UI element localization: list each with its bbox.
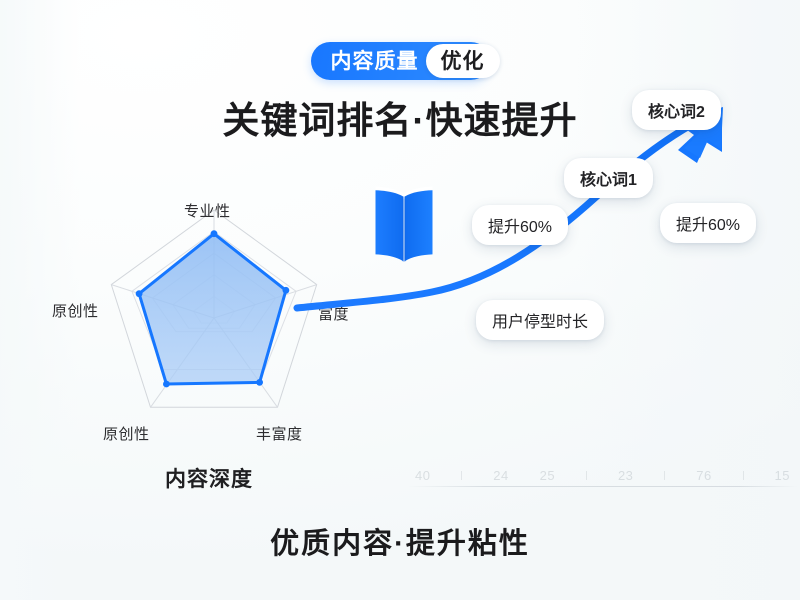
axis-number: 40 xyxy=(415,468,430,483)
axis-number: 23 xyxy=(618,468,633,483)
footer-title: 优质内容·提升粘性 xyxy=(0,520,800,562)
axis-number: 25 xyxy=(540,468,555,483)
axis-tick-mark xyxy=(586,471,587,480)
section-caption: 内容深度 xyxy=(165,463,253,493)
pill-keyword-1[interactable]: 核心词1 xyxy=(564,158,653,198)
pill-uplift-left[interactable]: 提升60% xyxy=(472,205,568,245)
badge-label: 内容质量 xyxy=(331,51,419,72)
open-book-icon xyxy=(372,184,436,268)
pill-dwell-time[interactable]: 用户停型时长 xyxy=(476,300,604,340)
pill-uplift-right[interactable]: 提升60% xyxy=(660,203,756,243)
poster-canvas: 专业性 富度 丰富度 原创性 原创性 内容质量 优化 关键词排名·快速提升 优质… xyxy=(0,0,800,600)
axis-tick-mark xyxy=(743,471,744,480)
axis-baseline xyxy=(408,486,798,487)
badge-row: 内容质量 优化 xyxy=(0,42,800,80)
pill-keyword-2[interactable]: 核心词2 xyxy=(632,90,721,130)
content-quality-badge[interactable]: 内容质量 优化 xyxy=(311,42,490,80)
axis-number: 76 xyxy=(696,468,711,483)
badge-chip-optimize: 优化 xyxy=(426,44,500,78)
axis-tick-mark xyxy=(461,471,462,480)
axis-tick-row: 40 24 25 23 76 15 xyxy=(415,464,790,486)
axis-number: 15 xyxy=(775,468,790,483)
axis-number: 24 xyxy=(493,468,508,483)
axis-tick-mark xyxy=(664,471,665,480)
